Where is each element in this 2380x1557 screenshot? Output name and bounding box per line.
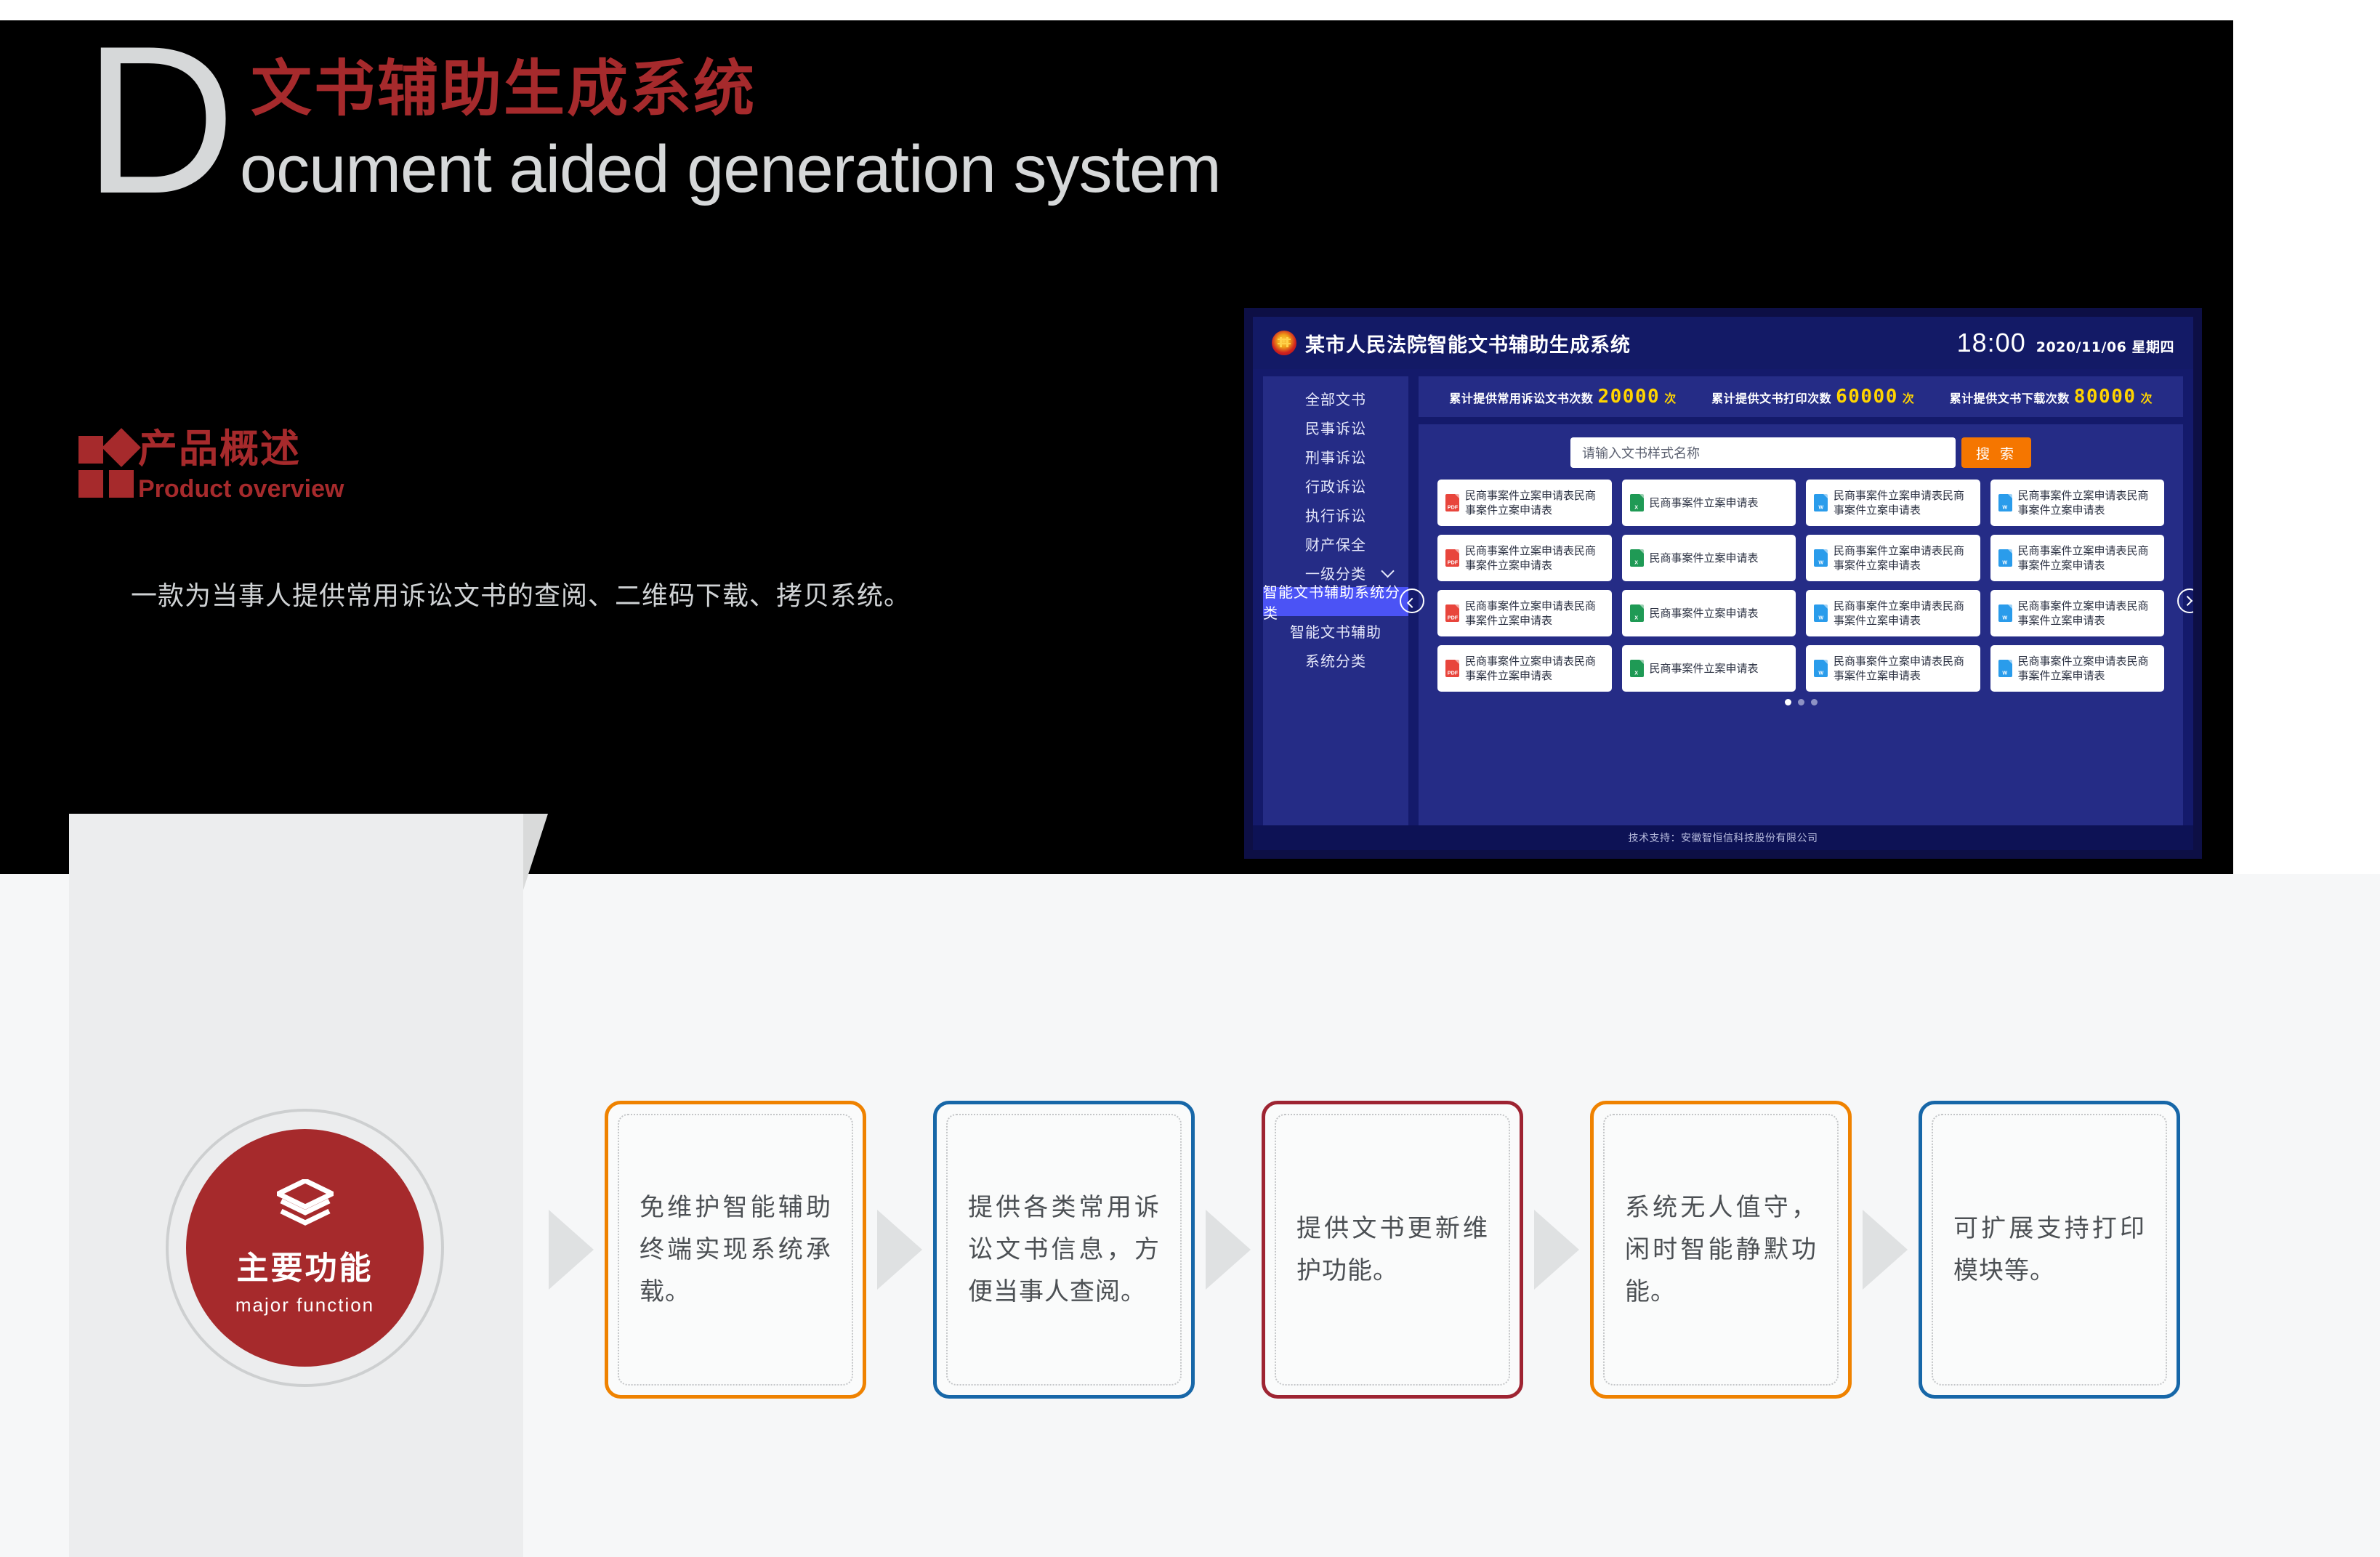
function-box-4: 系统无人值守，闲时智能静默功能。 [1590,1101,1852,1399]
doc-file-icon: W [1998,549,2012,567]
function-box-text: 系统无人值守，闲时智能静默功能。 [1625,1186,1817,1313]
document-card[interactable]: PDF民商事案件立案申请表民商事案件立案申请表 [1437,480,1612,526]
stat-value: 60000 [1836,386,1898,408]
court-emblem-icon [1272,331,1296,355]
pdf-file-icon: PDF [1445,549,1459,567]
function-box-text: 可扩展支持打印模块等。 [1953,1208,2145,1292]
sidebar-item-label: 行政诉讼 [1305,475,1366,496]
sidebar-item-4[interactable]: 执行诉讼 [1263,500,1408,529]
product-overview-description: 一款为当事人提供常用诉讼文书的查阅、二维码下载、拷贝系统。 [131,578,911,615]
layers-icon [277,1179,334,1226]
document-card-title: 民商事案件立案申请表民商事案件立案申请表 [1465,488,1604,517]
sidebar-item-label: 智能文书辅助 [1290,620,1381,642]
function-box-inner: 免维护智能辅助终端实现系统承载。 [618,1114,853,1386]
doc-file-icon: W [1998,494,2012,511]
stat-item-2: 累计提供文书下载次数80000次 [1950,386,2153,408]
pdf-file-icon: PDF [1445,660,1459,677]
document-card[interactable]: PDF民商事案件立案申请表民商事案件立案申请表 [1437,590,1612,636]
kiosk-sidebar: 全部文书民事诉讼刑事诉讼行政诉讼执行诉讼财产保全一级分类智能文书辅助系统分类智能… [1263,376,1408,825]
flow-arrow-icon-4 [1852,1210,1919,1290]
flow-arrow-icon-2 [1195,1210,1262,1290]
stat-value: 80000 [2074,386,2137,408]
flow-arrow-icon-1 [866,1210,933,1290]
document-card-title: 民商事案件立案申请表 [1650,606,1759,620]
sidebar-item-label: 刑事诉讼 [1305,446,1366,467]
stat-item-0: 累计提供常用诉讼文书次数20000次 [1449,386,1676,408]
xls-file-icon: X [1630,604,1644,622]
pdf-file-icon: PDF [1445,494,1459,511]
icon-square-1 [78,436,103,464]
kiosk-title: 某市人民法院智能文书辅助生成系统 [1305,329,1631,357]
kiosk-body: 全部文书民事诉讼刑事诉讼行政诉讼执行诉讼财产保全一级分类智能文书辅助系统分类智能… [1253,369,2193,825]
pager-dot-1[interactable] [1785,699,1791,705]
document-card-title: 民商事案件立案申请表 [1650,661,1759,676]
drop-cap-letter: D [84,15,235,225]
stat-unit: 次 [2141,389,2153,406]
stat-value: 20000 [1597,386,1660,408]
sidebar-item-label: 系统分类 [1305,650,1366,671]
pdf-file-icon: PDF [1445,604,1459,622]
doc-file-icon: W [1814,604,1828,622]
kiosk-screen: 某市人民法院智能文书辅助生成系统 18:00 2020/11/06 星期四 全部… [1253,317,2193,850]
sidebar-item-label: 财产保全 [1305,533,1366,554]
document-card[interactable]: W民商事案件立案申请表民商事案件立案申请表 [1806,535,1980,581]
sidebar-item-label: 执行诉讼 [1305,504,1366,525]
document-card-title: 民商事案件立案申请表民商事案件立案申请表 [2018,543,2157,573]
function-box-text: 提供各类常用诉讼文书信息，方便当事人查阅。 [968,1186,1160,1313]
document-card[interactable]: X民商事案件立案申请表 [1622,590,1796,636]
carousel-pager[interactable] [1437,692,2164,708]
function-box-inner: 系统无人值守，闲时智能静默功能。 [1603,1114,1839,1386]
xls-file-icon: X [1630,494,1644,511]
sidebar-item-label: 民事诉讼 [1305,417,1366,438]
document-card-title: 民商事案件立案申请表民商事案件立案申请表 [2018,654,2157,683]
hero-title-cn: 文书辅助生成系统 [251,55,757,122]
document-card[interactable]: W民商事案件立案申请表民商事案件立案申请表 [1990,645,2165,692]
pager-dot-2[interactable] [1798,699,1804,705]
document-card[interactable]: W民商事案件立案申请表民商事案件立案申请表 [1990,590,2165,636]
document-card[interactable]: W民商事案件立案申请表民商事案件立案申请表 [1990,480,2165,526]
stat-label: 累计提供常用诉讼文书次数 [1449,389,1593,406]
kiosk-footer: 技术支持：安徽智恒信科技股份有限公司 [1253,825,2193,850]
document-card-title: 民商事案件立案申请表民商事案件立案申请表 [1834,599,1972,628]
product-overview-heading-cn: 产品概述 [138,427,301,471]
function-box-2: 提供各类常用诉讼文书信息，方便当事人查阅。 [933,1101,1195,1399]
document-card-title: 民商事案件立案申请表民商事案件立案申请表 [1834,654,1972,683]
kiosk-clock: 18:00 2020/11/06 星期四 [1957,328,2174,358]
doc-file-icon: W [1814,660,1828,677]
document-card[interactable]: X民商事案件立案申请表 [1622,645,1796,692]
function-box-1: 免维护智能辅助终端实现系统承载。 [605,1101,866,1399]
icon-square-2 [78,470,103,498]
document-card[interactable]: X民商事案件立案申请表 [1622,480,1796,526]
kiosk-header: 某市人民法院智能文书辅助生成系统 18:00 2020/11/06 星期四 [1253,317,2193,369]
chevron-left-icon[interactable] [1400,589,1424,613]
kiosk-time: 18:00 [1957,328,2026,358]
document-card-title: 民商事案件立案申请表 [1650,496,1759,510]
function-box-text: 提供文书更新维护功能。 [1296,1208,1488,1292]
flow-arrow-icon-3 [1523,1210,1590,1290]
chevron-down-icon[interactable] [1381,565,1394,578]
panel-fold-corner [523,814,548,890]
document-card[interactable]: W民商事案件立案申请表民商事案件立案申请表 [1990,535,2165,581]
function-flow: 免维护智能辅助终端实现系统承载。提供各类常用诉讼文书信息，方便当事人查阅。提供文… [538,1097,2325,1402]
stat-label: 累计提供文书下载次数 [1950,389,2070,406]
document-card[interactable]: W民商事案件立案申请表民商事案件立案申请表 [1806,480,1980,526]
kiosk-stats-bar: 累计提供常用诉讼文书次数20000次累计提供文书打印次数60000次累计提供文书… [1419,376,2183,417]
document-card[interactable]: W民商事案件立案申请表民商事案件立案申请表 [1806,590,1980,636]
function-box-text: 免维护智能辅助终端实现系统承载。 [640,1186,831,1313]
document-card-title: 民商事案件立案申请表民商事案件立案申请表 [2018,599,2157,628]
doc-file-icon: W [1814,494,1828,511]
sidebar-item-2[interactable]: 刑事诉讼 [1263,442,1408,471]
xls-file-icon: X [1630,549,1644,567]
stat-label: 累计提供文书打印次数 [1711,389,1831,406]
document-card[interactable]: PDF民商事案件立案申请表民商事案件立案申请表 [1437,535,1612,581]
kiosk-screenshot: 某市人民法院智能文书辅助生成系统 18:00 2020/11/06 星期四 全部… [1244,308,2202,859]
document-card[interactable]: X民商事案件立案申请表 [1622,535,1796,581]
kiosk-search-row: 请输入文书样式名称 搜 索 [1437,437,2164,468]
kiosk-date: 2020/11/06 星期四 [2036,336,2174,356]
doc-file-icon: W [1814,549,1828,567]
document-card-title: 民商事案件立案申请表民商事案件立案申请表 [1834,543,1972,573]
document-card-title: 民商事案件立案申请表民商事案件立案申请表 [1834,488,1972,517]
doc-file-icon: W [1998,604,2012,622]
hero-banner: D 文书辅助生成系统 ocument aided generation syst… [0,20,2233,874]
major-function-title-cn: 主要功能 [237,1242,374,1288]
kiosk-content-panel: 请输入文书样式名称 搜 索 PDF民商事案件立案申请表民商事案件立案申请表X民商… [1419,424,2183,825]
document-card-grid: PDF民商事案件立案申请表民商事案件立案申请表X民商事案件立案申请表W民商事案件… [1437,480,2164,692]
stat-unit: 次 [1903,389,1914,406]
sidebar-item-0[interactable]: 全部文书 [1263,384,1408,413]
stat-unit: 次 [1664,389,1676,406]
function-box-3: 提供文书更新维护功能。 [1262,1101,1523,1399]
product-overview-heading-en: Product overview [138,475,344,503]
function-box-inner: 可扩展支持打印模块等。 [1932,1114,2167,1386]
xls-file-icon: X [1630,660,1644,677]
sidebar-item-label: 全部文书 [1305,388,1366,409]
pager-dot-3[interactable] [1811,699,1818,705]
sidebar-item-7[interactable]: 智能文书辅助系统分类 [1263,587,1408,616]
stat-item-1: 累计提供文书打印次数60000次 [1711,386,1914,408]
major-function-title-en: major function [235,1294,374,1317]
doc-file-icon: W [1998,660,2012,677]
slide-root: D 文书辅助生成系统 ocument aided generation syst… [0,0,2380,1557]
hero-title-en: ocument aided generation system [240,129,1221,209]
document-card-title: 民商事案件立案申请表民商事案件立案申请表 [1465,543,1604,573]
sidebar-item-9[interactable]: 系统分类 [1263,645,1408,674]
kiosk-main: 累计提供常用诉讼文书次数20000次累计提供文书打印次数60000次累计提供文书… [1419,376,2183,825]
function-box-inner: 提供各类常用诉讼文书信息，方便当事人查阅。 [946,1114,1182,1386]
document-card-title: 民商事案件立案申请表民商事案件立案申请表 [2018,488,2157,517]
icon-diamond [102,428,141,467]
document-card-title: 民商事案件立案申请表民商事案件立案申请表 [1465,654,1604,683]
sidebar-item-5[interactable]: 财产保全 [1263,529,1408,558]
major-function-badge: 主要功能 major function [186,1129,424,1367]
sidebar-item-8[interactable]: 智能文书辅助 [1263,616,1408,645]
document-card-title: 民商事案件立案申请表 [1650,551,1759,565]
sidebar-item-3[interactable]: 行政诉讼 [1263,471,1408,500]
function-box-5: 可扩展支持打印模块等。 [1919,1101,2180,1399]
icon-square-3 [109,470,134,498]
flow-arrow-icon-0 [538,1210,605,1290]
document-card[interactable]: W民商事案件立案申请表民商事案件立案申请表 [1806,645,1980,692]
document-card-title: 民商事案件立案申请表民商事案件立案申请表 [1465,599,1604,628]
document-card[interactable]: PDF民商事案件立案申请表民商事案件立案申请表 [1437,645,1612,692]
search-button[interactable]: 搜 索 [1961,437,2031,468]
kiosk-brand: 某市人民法院智能文书辅助生成系统 [1272,329,1631,357]
search-input[interactable]: 请输入文书样式名称 [1570,437,1956,468]
sidebar-item-1[interactable]: 民事诉讼 [1263,413,1408,442]
function-box-inner: 提供文书更新维护功能。 [1275,1114,1510,1386]
